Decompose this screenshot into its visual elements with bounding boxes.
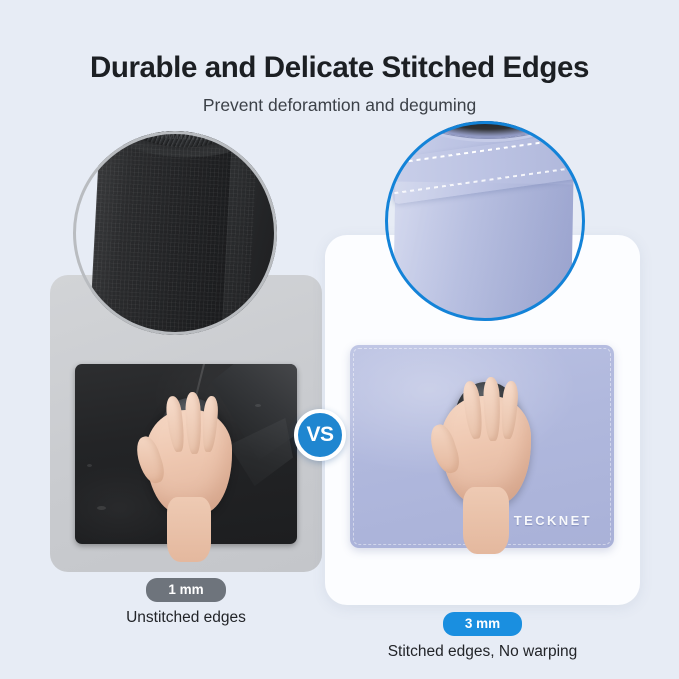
- rolled-purple-mousepad: [393, 121, 575, 321]
- page-title: Durable and Delicate Stitched Edges: [0, 52, 679, 84]
- thickness-badge-left: 1 mm: [146, 578, 225, 602]
- stitched-edge-closeup: [385, 121, 585, 321]
- hand-right: [441, 396, 531, 504]
- pad-wear-mark: [255, 404, 261, 407]
- header: Durable and Delicate Stitched Edges Prev…: [0, 0, 679, 116]
- thickness-badge-right: 3 mm: [443, 612, 522, 636]
- pad-wear-mark: [97, 506, 106, 510]
- hand-left: [146, 410, 232, 514]
- rolled-black-mousepad: [88, 131, 260, 335]
- brand-logo: TECKNET: [514, 513, 592, 528]
- caption-right: Stitched edges, No warping: [340, 643, 625, 661]
- unstitched-edge-closeup: [73, 131, 277, 335]
- wrist: [167, 497, 212, 561]
- pad-wear-mark: [87, 464, 92, 467]
- wrist: [463, 487, 510, 554]
- fabric-weave-texture: [88, 139, 257, 335]
- roll-shading: [393, 181, 574, 321]
- page-subtitle: Prevent deforamtion and deguming: [0, 95, 679, 116]
- right-caption-group: 3 mm Stitched edges, No warping: [340, 612, 625, 661]
- left-caption-group: 1 mm Unstitched edges: [46, 578, 326, 627]
- versus-badge: VS: [294, 409, 346, 461]
- caption-left: Unstitched edges: [46, 609, 326, 627]
